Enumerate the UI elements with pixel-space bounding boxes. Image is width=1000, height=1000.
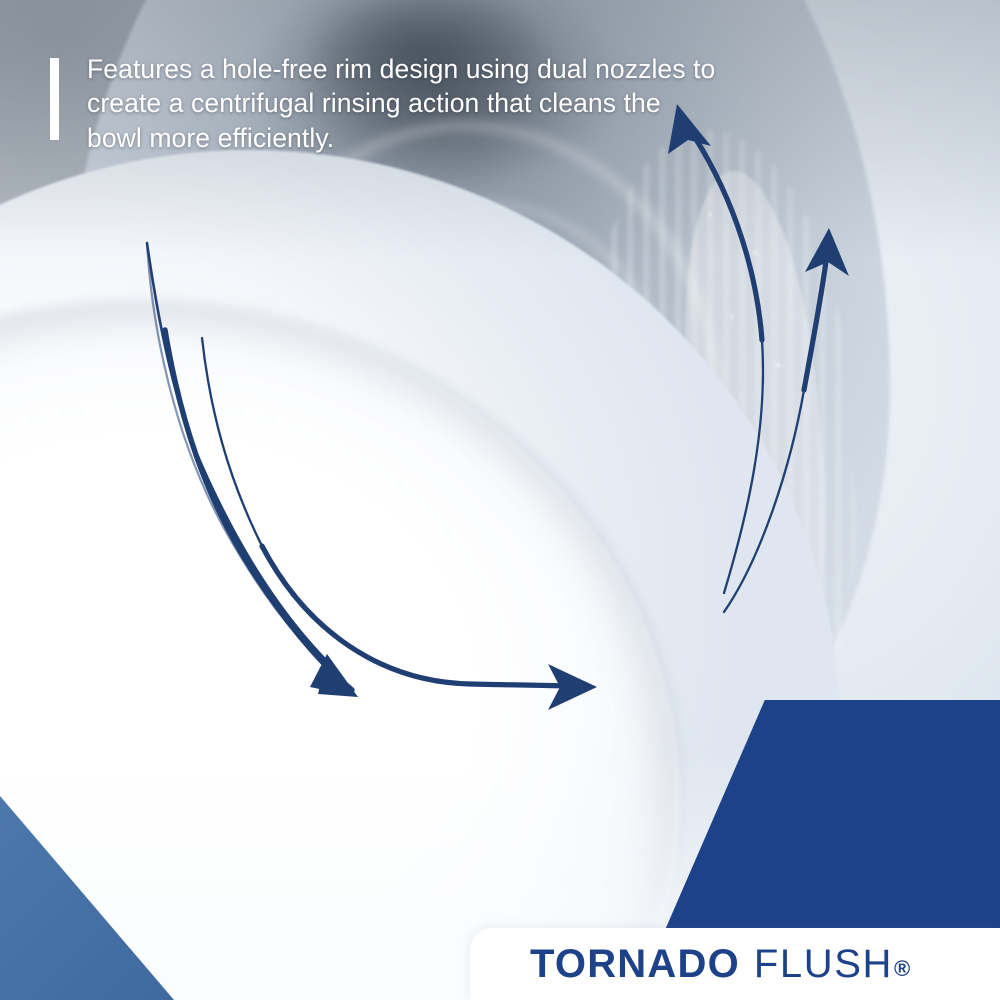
tornado-flush-logo: TORNADO FLUSH ®	[530, 942, 911, 987]
headline-block: Features a hole-free rim design using du…	[50, 52, 715, 155]
logo-panel: TORNADO FLUSH ®	[470, 928, 1000, 1000]
logo-word-flush: FLUSH	[754, 942, 893, 987]
promo-graphic: Features a hole-free rim design using du…	[0, 0, 1000, 1000]
logo-word-tornado: TORNADO	[530, 942, 740, 987]
headline-text: Features a hole-free rim design using du…	[87, 52, 715, 155]
accent-bar	[50, 58, 59, 140]
registered-trademark-icon: ®	[894, 956, 911, 982]
